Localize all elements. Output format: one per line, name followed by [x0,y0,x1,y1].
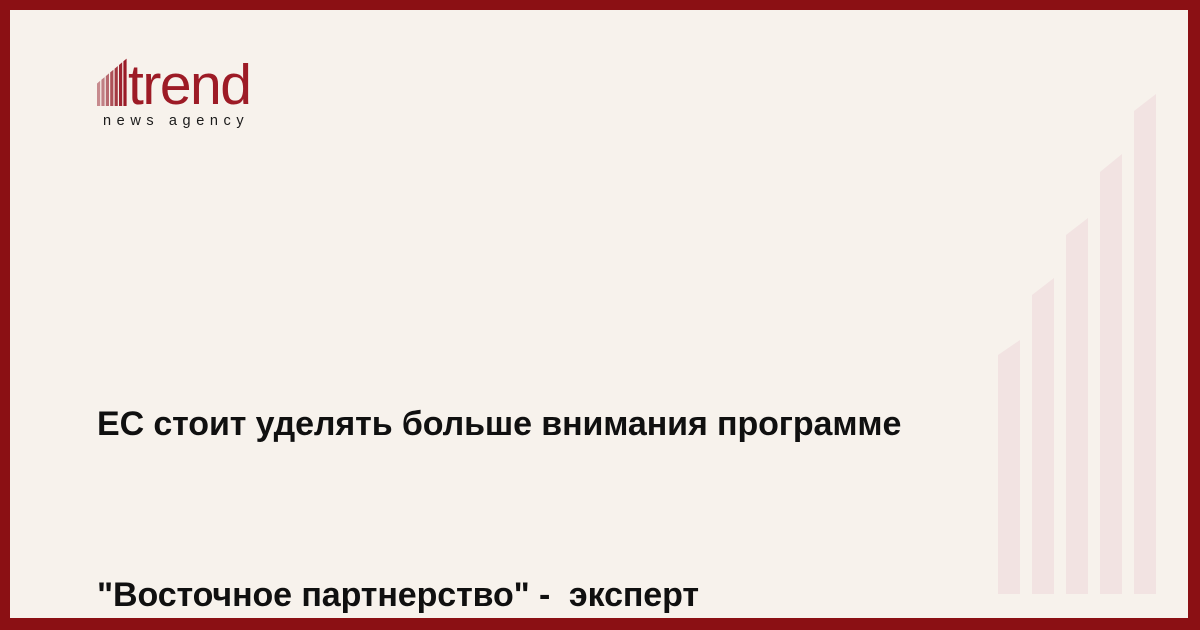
trend-logo[interactable]: trend news agency [97,48,397,129]
deco-bar-4 [1100,154,1122,594]
deco-bar-2 [1032,278,1054,594]
deco-bar-3 [1066,218,1088,594]
headline-line-2: "Восточное партнерство" - эксперт [97,567,1027,618]
trend-ascending-bars-mark [97,58,127,106]
card-canvas: trend news agency ЕС стоит уделять больш… [10,10,1188,618]
deco-bar-5 [1134,94,1156,594]
headline-line-1: ЕС стоит уделять больше внимания програм… [97,396,1027,453]
page-title: ЕС стоит уделять больше внимания програм… [97,282,1027,618]
logo-wordmark: trend [128,61,250,109]
logo-row: trend [97,48,397,106]
news-share-card: trend news agency ЕС стоит уделять больш… [0,0,1200,630]
